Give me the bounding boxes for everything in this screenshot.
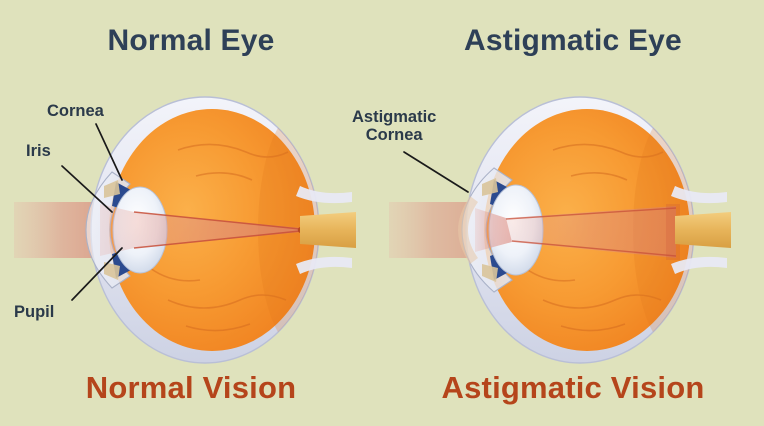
diagram-canvas: Normal Eye Normal Vision Astigmatic Eye … bbox=[0, 0, 764, 426]
title-normal-eye: Normal Eye bbox=[0, 24, 382, 58]
title-astigmatic-eye: Astigmatic Eye bbox=[382, 24, 764, 58]
label-astigmatic-cornea: Astigmatic Cornea bbox=[352, 108, 436, 145]
panel-normal-eye: Normal Eye Normal Vision bbox=[0, 0, 382, 426]
label-pupil: Pupil bbox=[14, 303, 54, 321]
label-cornea: Cornea bbox=[47, 102, 104, 120]
caption-normal-vision: Normal Vision bbox=[0, 370, 382, 406]
label-iris: Iris bbox=[26, 142, 51, 160]
panel-astigmatic-eye: Astigmatic Eye Astigmatic Vision bbox=[382, 0, 764, 426]
caption-astigmatic-vision: Astigmatic Vision bbox=[382, 370, 764, 406]
